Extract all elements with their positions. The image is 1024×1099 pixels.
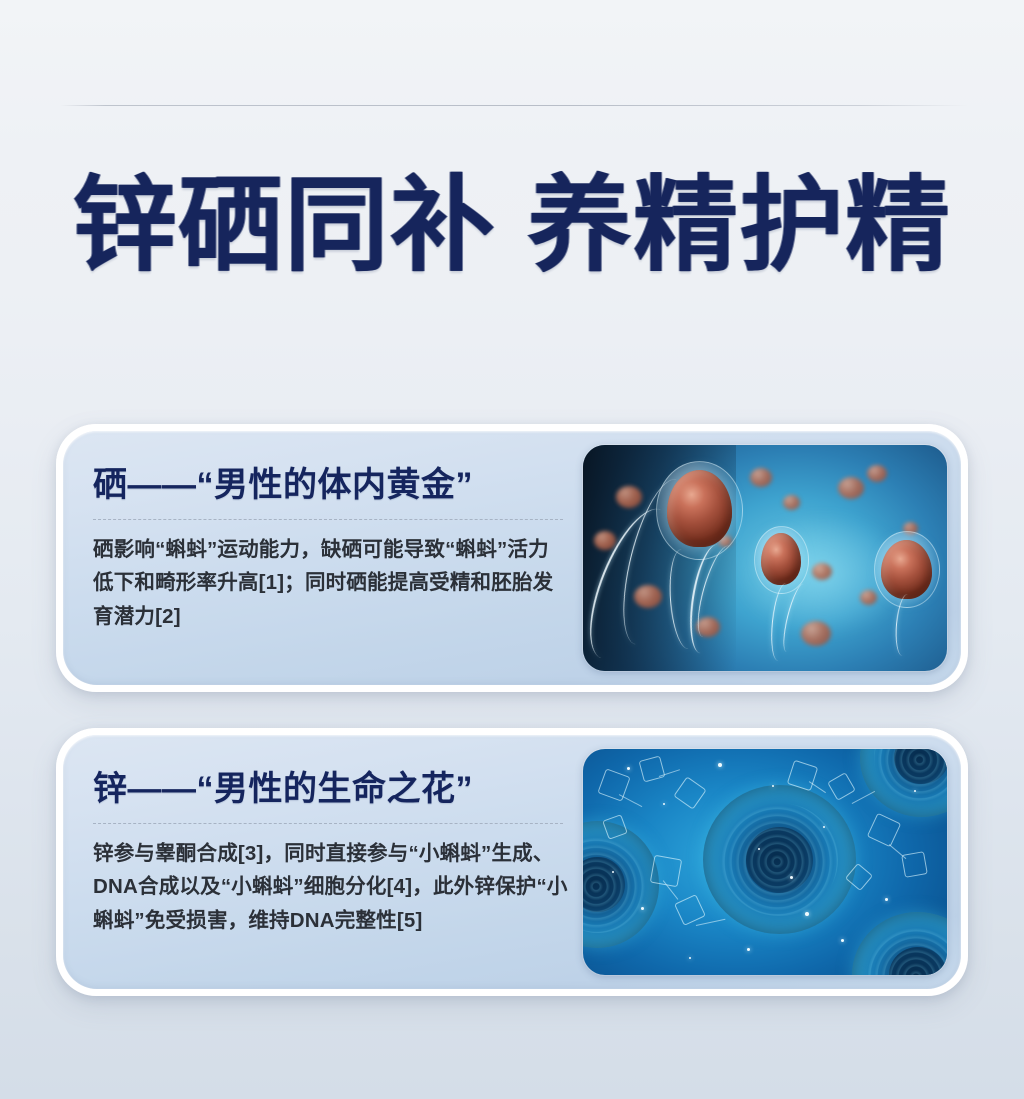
background-cell-dot <box>750 468 772 487</box>
sperm-head-secondary <box>761 533 801 585</box>
background-cell-dot <box>860 590 877 605</box>
cell-center <box>703 785 856 934</box>
molecule-hexagon <box>827 772 856 801</box>
molecule-hexagon <box>866 813 901 848</box>
info-card-zinc: 锌——“男性的生命之花” 锌参与睾酮合成[3]，同时直接参与“小蝌蚪”生成、DN… <box>56 728 968 996</box>
card-title-zinc: 锌——“男性的生命之花” <box>93 769 573 809</box>
background-cell-dot <box>616 486 642 508</box>
sparkle <box>627 767 630 770</box>
cell-nucleus <box>889 947 947 975</box>
molecule-bond <box>852 791 876 804</box>
card-title-divider <box>93 519 563 520</box>
molecule-bond <box>619 794 643 807</box>
sparkle <box>689 957 691 959</box>
page-title: 锌硒同补 养精护精 <box>0 168 1024 284</box>
sparkle <box>841 939 844 942</box>
card-text-block: 锌——“男性的生命之花” 锌参与睾酮合成[3]，同时直接参与“小蝌蚪”生成、DN… <box>93 769 573 937</box>
sparkle <box>718 763 722 767</box>
molecule-bond <box>888 844 906 859</box>
cell-nucleus <box>746 827 813 893</box>
sperm-cells-image <box>583 445 947 671</box>
background-cell-dot <box>867 465 887 482</box>
cell-molecule-image <box>583 749 947 975</box>
cell-top-right <box>860 749 947 817</box>
background-cell-dot <box>594 531 616 550</box>
sparkle <box>914 790 916 792</box>
card-title-selenium: 硒——“男性的体内黄金” <box>93 465 573 505</box>
background-cell-dot <box>812 563 832 580</box>
molecule-bond <box>696 919 726 927</box>
card-body-zinc: 锌参与睾酮合成[3]，同时直接参与“小蝌蚪”生成、DNA合成以及“小蝌蚪”细胞分… <box>93 837 568 937</box>
card-text-block: 硒——“男性的体内黄金” 硒影响“蝌蚪”运动能力，缺硒可能导致“蝌蚪”活力低下和… <box>93 465 573 633</box>
card-inner-surface: 锌——“男性的生命之花” 锌参与睾酮合成[3]，同时直接参与“小蝌蚪”生成、DN… <box>63 735 961 989</box>
info-card-selenium: 硒——“男性的体内黄金” 硒影响“蝌蚪”运动能力，缺硒可能导致“蝌蚪”活力低下和… <box>56 424 968 692</box>
top-divider-rule <box>60 105 968 106</box>
background-cell-dot <box>801 621 831 646</box>
sparkle <box>805 912 809 916</box>
molecule-hexagon <box>673 776 706 809</box>
sparkle <box>747 948 750 951</box>
background-cell-dot <box>838 477 864 499</box>
cell-nucleus <box>583 857 625 913</box>
cell-nucleus <box>894 749 947 784</box>
card-inner-surface: 硒——“男性的体内黄金” 硒影响“蝌蚪”运动能力，缺硒可能导致“蝌蚪”活力低下和… <box>63 431 961 685</box>
cell-bottom-right <box>852 912 947 975</box>
sparkle <box>663 803 665 805</box>
card-title-divider <box>93 823 563 824</box>
card-body-selenium: 硒影响“蝌蚪”运动能力，缺硒可能导致“蝌蚪”活力低下和畸形率升高[1]；同时硒能… <box>93 533 568 633</box>
sparkle <box>885 898 888 901</box>
background-cell-dot <box>783 495 800 510</box>
molecule-hexagon <box>639 756 666 783</box>
molecule-hexagon <box>598 768 631 801</box>
cell-left <box>583 821 659 948</box>
molecule-hexagon <box>901 851 928 878</box>
